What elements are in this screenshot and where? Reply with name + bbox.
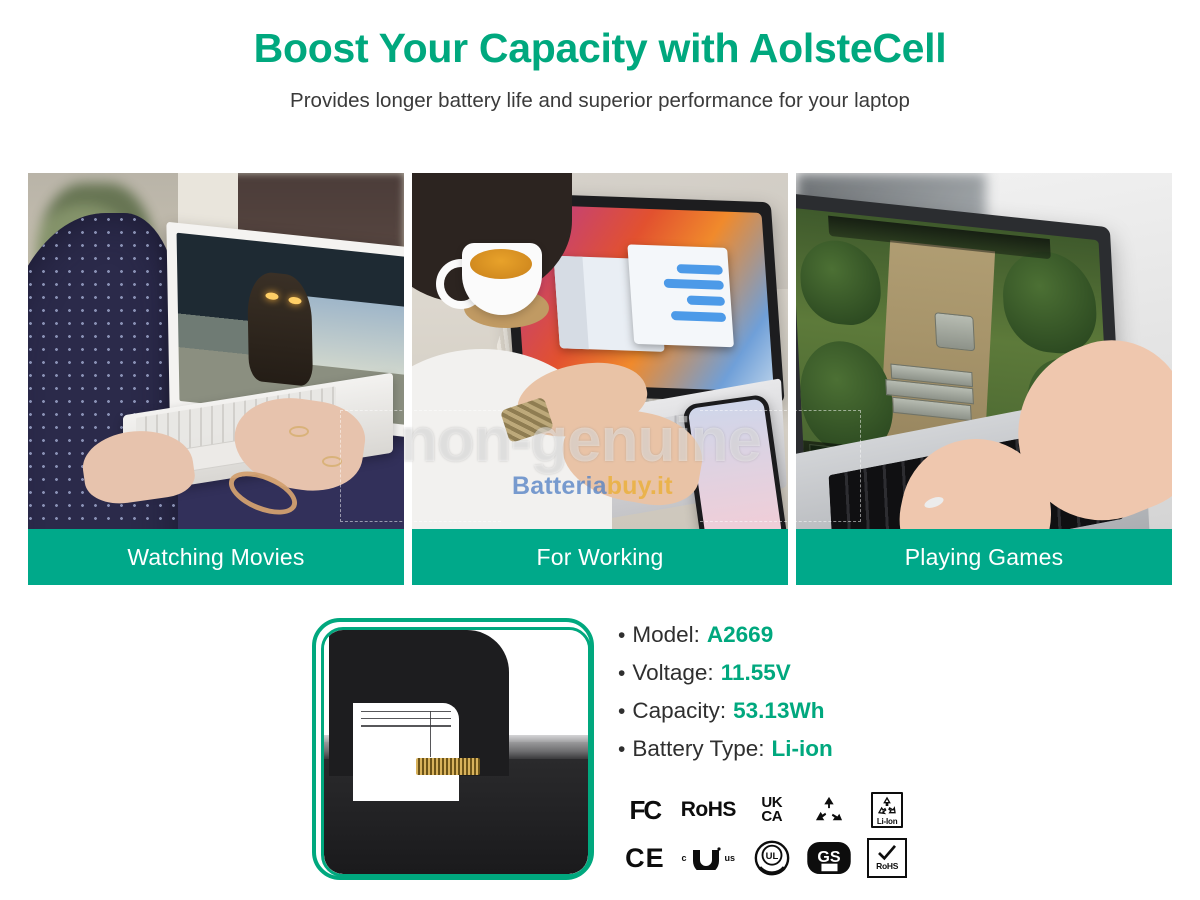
fcc-icon: FC	[616, 788, 674, 832]
bullet-icon: •	[618, 739, 625, 760]
spec-value-model: A2669	[707, 622, 773, 648]
product-details-section: • Model: A2669 • Voltage: 11.55V • Capac…	[0, 600, 1200, 900]
certification-row-1: FC RoHS UK CA	[616, 786, 916, 834]
spec-label-battery-type: Battery Type:	[632, 736, 764, 762]
recycle-icon	[801, 788, 859, 832]
page-title: Boost Your Capacity with AolsteCell	[0, 26, 1200, 71]
use-case-caption-3: Playing Games	[796, 529, 1172, 585]
certification-badges: FC RoHS UK CA	[616, 786, 916, 882]
spec-list: • Model: A2669 • Voltage: 11.55V • Capac…	[618, 622, 948, 774]
cul-prefix: c	[682, 853, 687, 863]
li-ion-label: Li-Ion	[876, 817, 898, 826]
ul-listed-icon: UL	[743, 836, 801, 880]
spec-row-capacity: • Capacity: 53.13Wh	[618, 698, 948, 724]
use-case-caption-2: For Working	[412, 529, 788, 585]
rohs-icon: RoHS	[674, 788, 743, 832]
rohs-check-label: RoHS	[876, 861, 898, 871]
spec-value-battery-type: Li-ion	[772, 736, 833, 762]
svg-text:GS: GS	[818, 848, 841, 866]
cul-suffix: us	[725, 853, 736, 863]
certification-row-2: CE c us UL	[616, 834, 916, 882]
spec-label-model: Model:	[632, 622, 700, 648]
spec-value-capacity: 53.13Wh	[733, 698, 824, 724]
spec-row-model: • Model: A2669	[618, 622, 948, 648]
ce-label: CE	[625, 843, 665, 874]
photo-playing-games	[796, 173, 1172, 529]
spec-label-voltage: Voltage:	[632, 660, 713, 686]
photo-watching-movies	[28, 173, 404, 529]
page-subtitle: Provides longer battery life and superio…	[0, 89, 1200, 113]
photo-for-working	[412, 173, 788, 529]
spec-value-voltage: 11.55V	[721, 660, 791, 686]
spec-row-battery-type: • Battery Type: Li-ion	[618, 736, 948, 762]
gs-mark-icon: GS	[801, 836, 859, 880]
bullet-icon: •	[618, 701, 625, 722]
use-case-card-for-working[interactable]: For Working	[412, 173, 788, 585]
ukca-line-2: CA	[761, 810, 782, 824]
fcc-label: FC	[630, 795, 661, 826]
rohs-label: RoHS	[681, 798, 736, 822]
use-case-caption-1: Watching Movies	[28, 529, 404, 585]
svg-text:UL: UL	[765, 851, 778, 862]
spec-label-capacity: Capacity:	[632, 698, 726, 724]
cul-us-icon: c us	[674, 836, 743, 880]
bullet-icon: •	[618, 663, 625, 684]
page-header: Boost Your Capacity with AolsteCell Prov…	[0, 0, 1200, 113]
rohs-check-icon: RoHS	[858, 836, 916, 880]
use-case-panels: Watching Movies	[28, 173, 1172, 585]
li-ion-recycle-icon: Li-Ion	[858, 788, 916, 832]
use-case-card-playing-games[interactable]: Playing Games	[796, 173, 1172, 585]
product-image-frame	[312, 618, 594, 880]
spec-row-voltage: • Voltage: 11.55V	[618, 660, 948, 686]
bullet-icon: •	[618, 625, 625, 646]
product-image	[321, 627, 591, 877]
use-case-card-watching-movies[interactable]: Watching Movies	[28, 173, 404, 585]
ce-icon: CE	[616, 836, 674, 880]
promo-page: Boost Your Capacity with AolsteCell Prov…	[0, 0, 1200, 900]
ukca-icon: UK CA	[743, 788, 801, 832]
